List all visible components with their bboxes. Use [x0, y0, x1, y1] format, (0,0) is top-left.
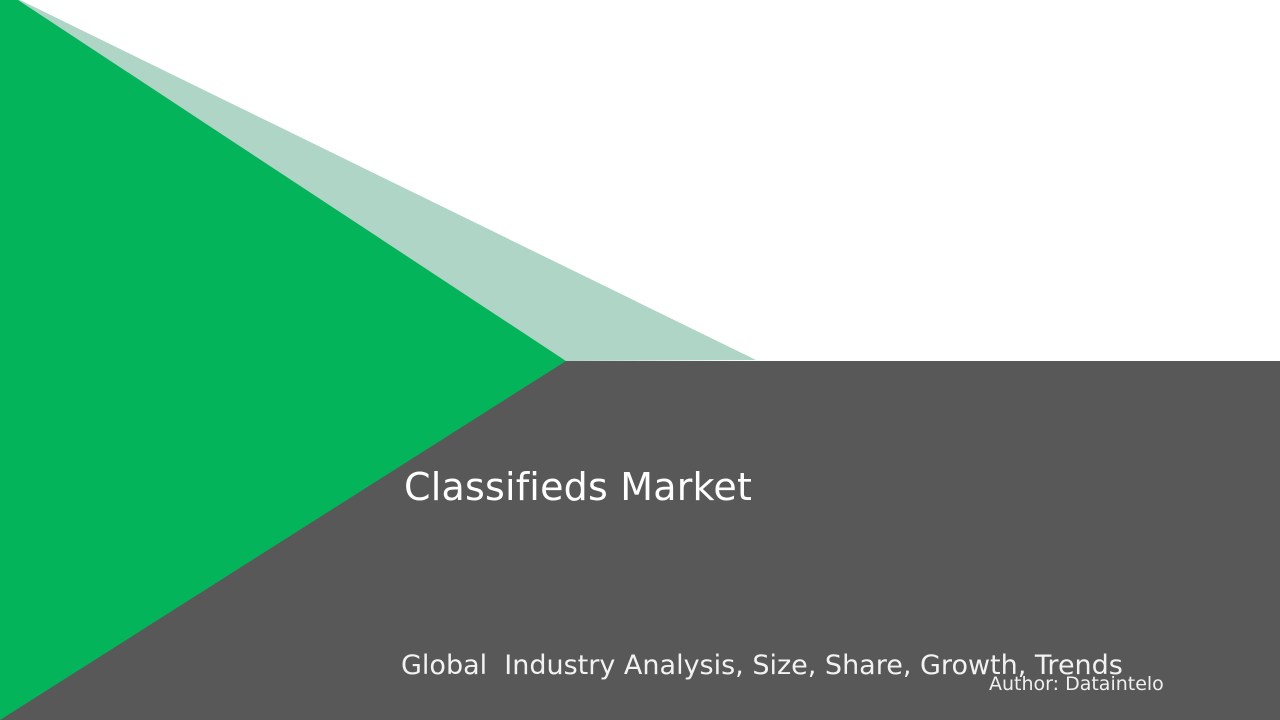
- slide-content: Classifieds Market Global Industry Analy…: [0, 0, 1280, 720]
- author-label: Author: Dataintelo: [989, 672, 1164, 696]
- page-title: Classifieds Market: [404, 463, 752, 511]
- title-slide: Classifieds Market Global Industry Analy…: [0, 0, 1280, 720]
